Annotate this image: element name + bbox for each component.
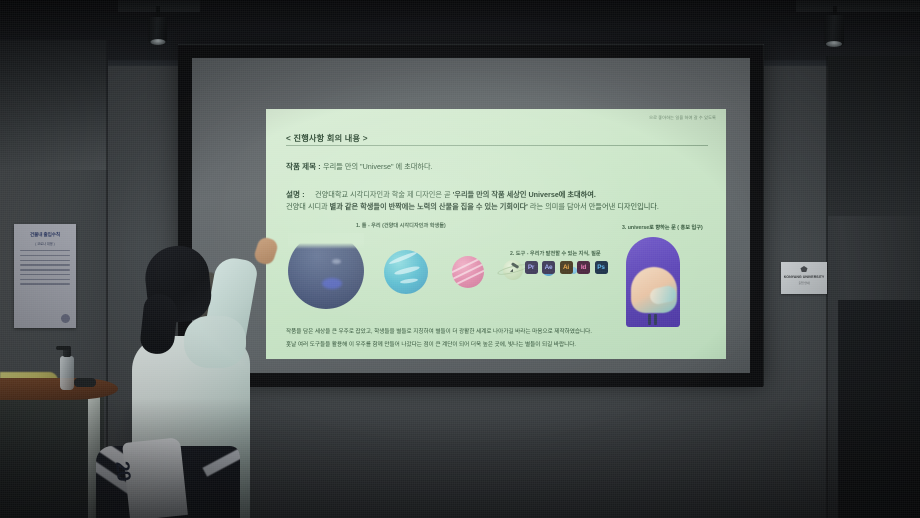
spotlight-lens-left	[150, 39, 165, 45]
description-line-1: 건양대학교 시각디자인과 학술 제 디자인은 곧 '우리들 만의 작품 세상인 …	[315, 190, 596, 200]
side-table-top	[0, 378, 118, 400]
poster-body-lines	[20, 250, 70, 288]
presenter-shoulder	[184, 316, 246, 368]
closing-paragraph-line-2: 훗날 여러 도구들을 활용해 이 우주를 함께 만들어 나갔다는 점이 큰 계단…	[286, 340, 576, 348]
right-wall-sign-line-2: 출입 안내	[781, 282, 827, 286]
spotlight-lens-right	[826, 41, 842, 47]
universe-door-illustration	[626, 237, 680, 327]
right-wall-sign-line-1: KONYANG UNIVERSITY	[781, 275, 827, 279]
poster-line	[20, 279, 70, 280]
work-title-label: 작품 제목 :	[286, 161, 321, 172]
after-effects-icon: Ae	[542, 261, 555, 274]
door-figure-leg-left	[648, 314, 651, 325]
projected-slide: 으로 좋아하는 일을 하여 갈 수 있도록 < 진행사항 회의 내용 > 작품 …	[266, 109, 726, 359]
description-line-1-plain: 건양대학교 시각디자인과 학술 제 디자인은 곧	[315, 190, 453, 199]
right-wall-sign: KONYANG UNIVERSITY 출입 안내	[781, 262, 827, 294]
illustrator-icon: Ai	[560, 261, 573, 274]
ceiling-track-spotlight-right	[824, 15, 844, 47]
planet-teal	[384, 250, 428, 294]
poster-seal-stamp	[61, 314, 70, 323]
left-wall-upper-shadow	[0, 40, 108, 170]
indesign-icon: Id	[577, 261, 590, 274]
right-wall-upper-shadow	[828, 56, 920, 216]
closing-paragraph-line-1: 작품을 담은 세상을 큰 우주로 잡았고, 학생들을 별들로 지칭하여 별들이 …	[286, 327, 592, 335]
floor-vignette	[0, 398, 920, 518]
description-line-2-plain-b: 라는 의미를 담아서 만들어낸 디자인입니다.	[528, 202, 659, 211]
description-line-1-bold: '우리들 만의 작품 세상인 Universe에 초대하여.	[453, 190, 596, 199]
planet-pink	[452, 256, 484, 288]
door-figure-legs	[647, 313, 659, 325]
poster-line	[20, 255, 70, 256]
slide-corner-note: 으로 좋아하는 일을 하여 갈 수 있도록	[649, 115, 716, 121]
left-wall-notice-poster: 건물내 출입수칙 ( 코로나 대응 )	[14, 224, 76, 328]
planet-navy-highlight	[332, 259, 341, 264]
track-rail-right	[796, 0, 920, 12]
hand-sanitizer-bottle	[60, 356, 74, 390]
hand-sanitizer-nozzle	[56, 346, 71, 350]
description-line-2-bold: 별과 같은 학생들이 반짝에는 노력의 산물을 집을 수 있는 기회이다'	[330, 202, 528, 211]
shield-mark-icon	[801, 266, 808, 272]
ceiling-track-spotlight-left	[148, 17, 167, 45]
door-figure-leg-right	[654, 314, 657, 325]
planet-navy-crater	[322, 278, 342, 289]
poster-title: 건물내 출입수칙	[14, 232, 76, 238]
pen-tool-icon	[510, 263, 520, 273]
poster-line	[20, 269, 70, 270]
poster-line	[20, 250, 70, 251]
slide-title-divider	[286, 145, 708, 146]
planet-navy-top-crop	[288, 233, 364, 249]
photoshop-icon: Ps	[595, 261, 608, 274]
presenter-hand	[252, 236, 279, 267]
poster-line	[20, 260, 70, 261]
poster-subtitle: ( 코로나 대응 )	[14, 241, 76, 246]
poster-line	[20, 283, 70, 284]
slide-title: < 진행사항 회의 내용 >	[286, 132, 368, 144]
description-line-2-plain-a: 건양대 시디과	[286, 202, 330, 211]
poster-line	[20, 274, 70, 275]
dark-object-on-table	[74, 378, 96, 387]
description-line-2: 건양대 시디과 별과 같은 학생들이 반짝에는 노력의 산물을 집을 수 있는 …	[286, 202, 659, 212]
description-label: 설명 :	[286, 189, 305, 200]
section-2-caption: 2. 도구 - 우리가 발전할 수 있는 지식, 질문	[510, 250, 601, 257]
tool-icon-row: Pr Ae Ai Id Ps	[510, 261, 608, 274]
poster-line	[20, 264, 70, 265]
planet-teal-swirl-2	[394, 265, 420, 276]
section-3-caption: 3. universe로 향하는 문 ( 홍보 입구)	[622, 224, 703, 231]
section-1-caption: 1. 틀 - 우리 (건양대 시각디자인과 학생들)	[356, 222, 446, 229]
premiere-pro-icon: Pr	[525, 261, 538, 274]
planet-teal-swirl-1	[388, 251, 417, 266]
work-title-value: 우리들 만의 "Universe" 에 초대하다.	[323, 162, 433, 172]
planet-teal-swirl-3	[400, 278, 418, 284]
classroom-photo: 으로 좋아하는 일을 하여 갈 수 있도록 < 진행사항 회의 내용 > 작품 …	[0, 0, 920, 518]
